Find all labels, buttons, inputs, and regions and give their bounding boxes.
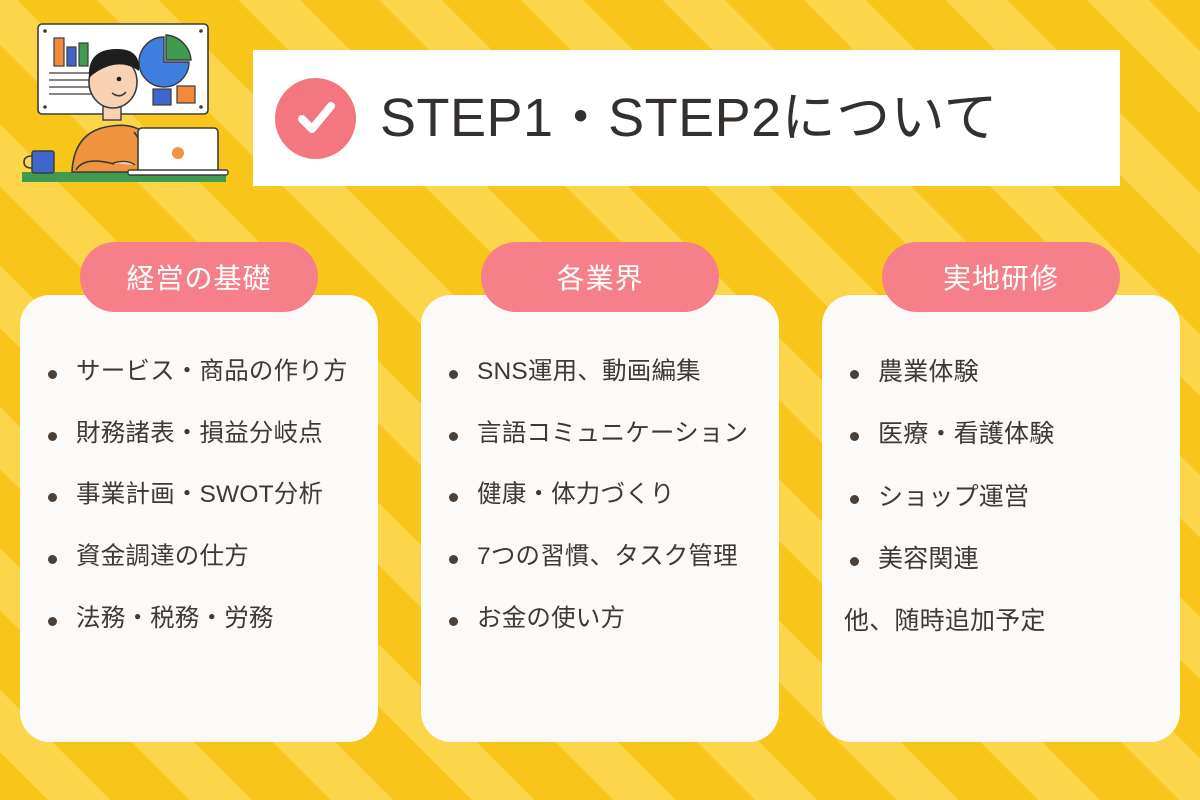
column-heading-pill-2: 各業界 bbox=[481, 242, 719, 312]
bullet-dot-icon bbox=[449, 555, 458, 564]
list-item-label: ショップ運営 bbox=[878, 482, 1029, 513]
list-item-label: 財務諸表・損益分岐点 bbox=[76, 419, 323, 450]
column-card-1: サービス・商品の作り方 財務諸表・損益分岐点 事業計画・SWOT分析 資金調達の… bbox=[20, 295, 378, 742]
list-item-label: 美容関連 bbox=[878, 544, 979, 575]
column-card-2: SNS運用、動画編集 言語コミュニケーション 健康・体力づくり 7つの習慣、タス… bbox=[421, 295, 779, 742]
list-item: 資金調達の仕方 bbox=[48, 542, 364, 573]
list-item: 法務・税務・労務 bbox=[48, 604, 364, 635]
bullet-dot-icon bbox=[850, 370, 859, 379]
list-item-label: 農業体験 bbox=[878, 357, 979, 388]
bullet-dot-icon bbox=[449, 432, 458, 441]
list-item-label: 健康・体力づくり bbox=[477, 480, 675, 511]
page-title: STEP1・STEP2について bbox=[380, 91, 998, 145]
illustration-svg bbox=[16, 20, 232, 190]
list-item-label: 法務・税務・労務 bbox=[76, 604, 274, 635]
list-item: 美容関連 bbox=[850, 544, 1166, 575]
list-item: 農業体験 bbox=[850, 357, 1166, 388]
list-item-label: 事業計画・SWOT分析 bbox=[76, 480, 323, 511]
bullet-dot-icon bbox=[449, 370, 458, 379]
column-keiei-no-kiso: 経営の基礎 サービス・商品の作り方 財務諸表・損益分岐点 事業計画・SWOT分析 bbox=[20, 242, 378, 742]
list-item: 財務諸表・損益分岐点 bbox=[48, 419, 364, 450]
bullet-dot-icon bbox=[48, 617, 57, 626]
bullet-dot-icon bbox=[449, 493, 458, 502]
column-kaku-gyoukai: 各業界 SNS運用、動画編集 言語コミュニケーション 健康・体力づくり bbox=[421, 242, 779, 742]
list-item-label: お金の使い方 bbox=[477, 604, 625, 635]
list-item: サービス・商品の作り方 bbox=[48, 357, 364, 388]
list-item: 医療・看護体験 bbox=[850, 419, 1166, 450]
slide-root: STEP1・STEP2について 経営の基礎 サービス・商品の作り方 財務諸表・損… bbox=[0, 0, 1200, 800]
person-at-laptop-with-charts-illustration bbox=[16, 20, 232, 190]
list-item-label: SNS運用、動画編集 bbox=[477, 357, 701, 388]
bullet-dot-icon bbox=[850, 557, 859, 566]
columns-container: 経営の基礎 サービス・商品の作り方 財務諸表・損益分岐点 事業計画・SWOT分析 bbox=[20, 242, 1180, 762]
column-list-1: サービス・商品の作り方 財務諸表・損益分岐点 事業計画・SWOT分析 資金調達の… bbox=[20, 357, 378, 634]
list-item: 事業計画・SWOT分析 bbox=[48, 480, 364, 511]
bullet-dot-icon bbox=[449, 617, 458, 626]
bullet-dot-icon bbox=[850, 432, 859, 441]
bullet-dot-icon bbox=[850, 495, 859, 504]
list-item-label: 7つの習慣、タスク管理 bbox=[477, 542, 738, 573]
list-item-note: 他、随時追加予定 bbox=[844, 606, 1166, 637]
list-item: ショップ運営 bbox=[850, 482, 1166, 513]
list-item: 健康・体力づくり bbox=[449, 480, 765, 511]
list-item: 言語コミュニケーション bbox=[449, 419, 765, 450]
page-title-bar: STEP1・STEP2について bbox=[253, 50, 1120, 186]
bullet-dot-icon bbox=[48, 370, 57, 379]
list-item-label: サービス・商品の作り方 bbox=[76, 357, 348, 388]
bullet-dot-icon bbox=[48, 493, 57, 502]
list-item: SNS運用、動画編集 bbox=[449, 357, 765, 388]
check-circle-icon bbox=[275, 78, 356, 159]
list-item-label: 資金調達の仕方 bbox=[76, 542, 249, 573]
list-item-label: 他、随時追加予定 bbox=[844, 606, 1046, 637]
column-heading-pill-3: 実地研修 bbox=[882, 242, 1120, 312]
list-item-label: 医療・看護体験 bbox=[878, 419, 1054, 450]
column-list-3: 農業体験 医療・看護体験 ショップ運営 美容関連 bbox=[822, 357, 1180, 637]
column-list-2: SNS運用、動画編集 言語コミュニケーション 健康・体力づくり 7つの習慣、タス… bbox=[421, 357, 779, 634]
column-jicchi-kenshu: 実地研修 農業体験 医療・看護体験 ショップ運営 bbox=[822, 242, 1180, 742]
list-item: お金の使い方 bbox=[449, 604, 765, 635]
bullet-dot-icon bbox=[48, 555, 57, 564]
list-item: 7つの習慣、タスク管理 bbox=[449, 542, 765, 573]
list-item-label: 言語コミュニケーション bbox=[477, 419, 748, 450]
column-heading-pill-1: 経営の基礎 bbox=[80, 242, 318, 312]
column-card-3: 農業体験 医療・看護体験 ショップ運営 美容関連 bbox=[822, 295, 1180, 742]
bullet-dot-icon bbox=[48, 432, 57, 441]
